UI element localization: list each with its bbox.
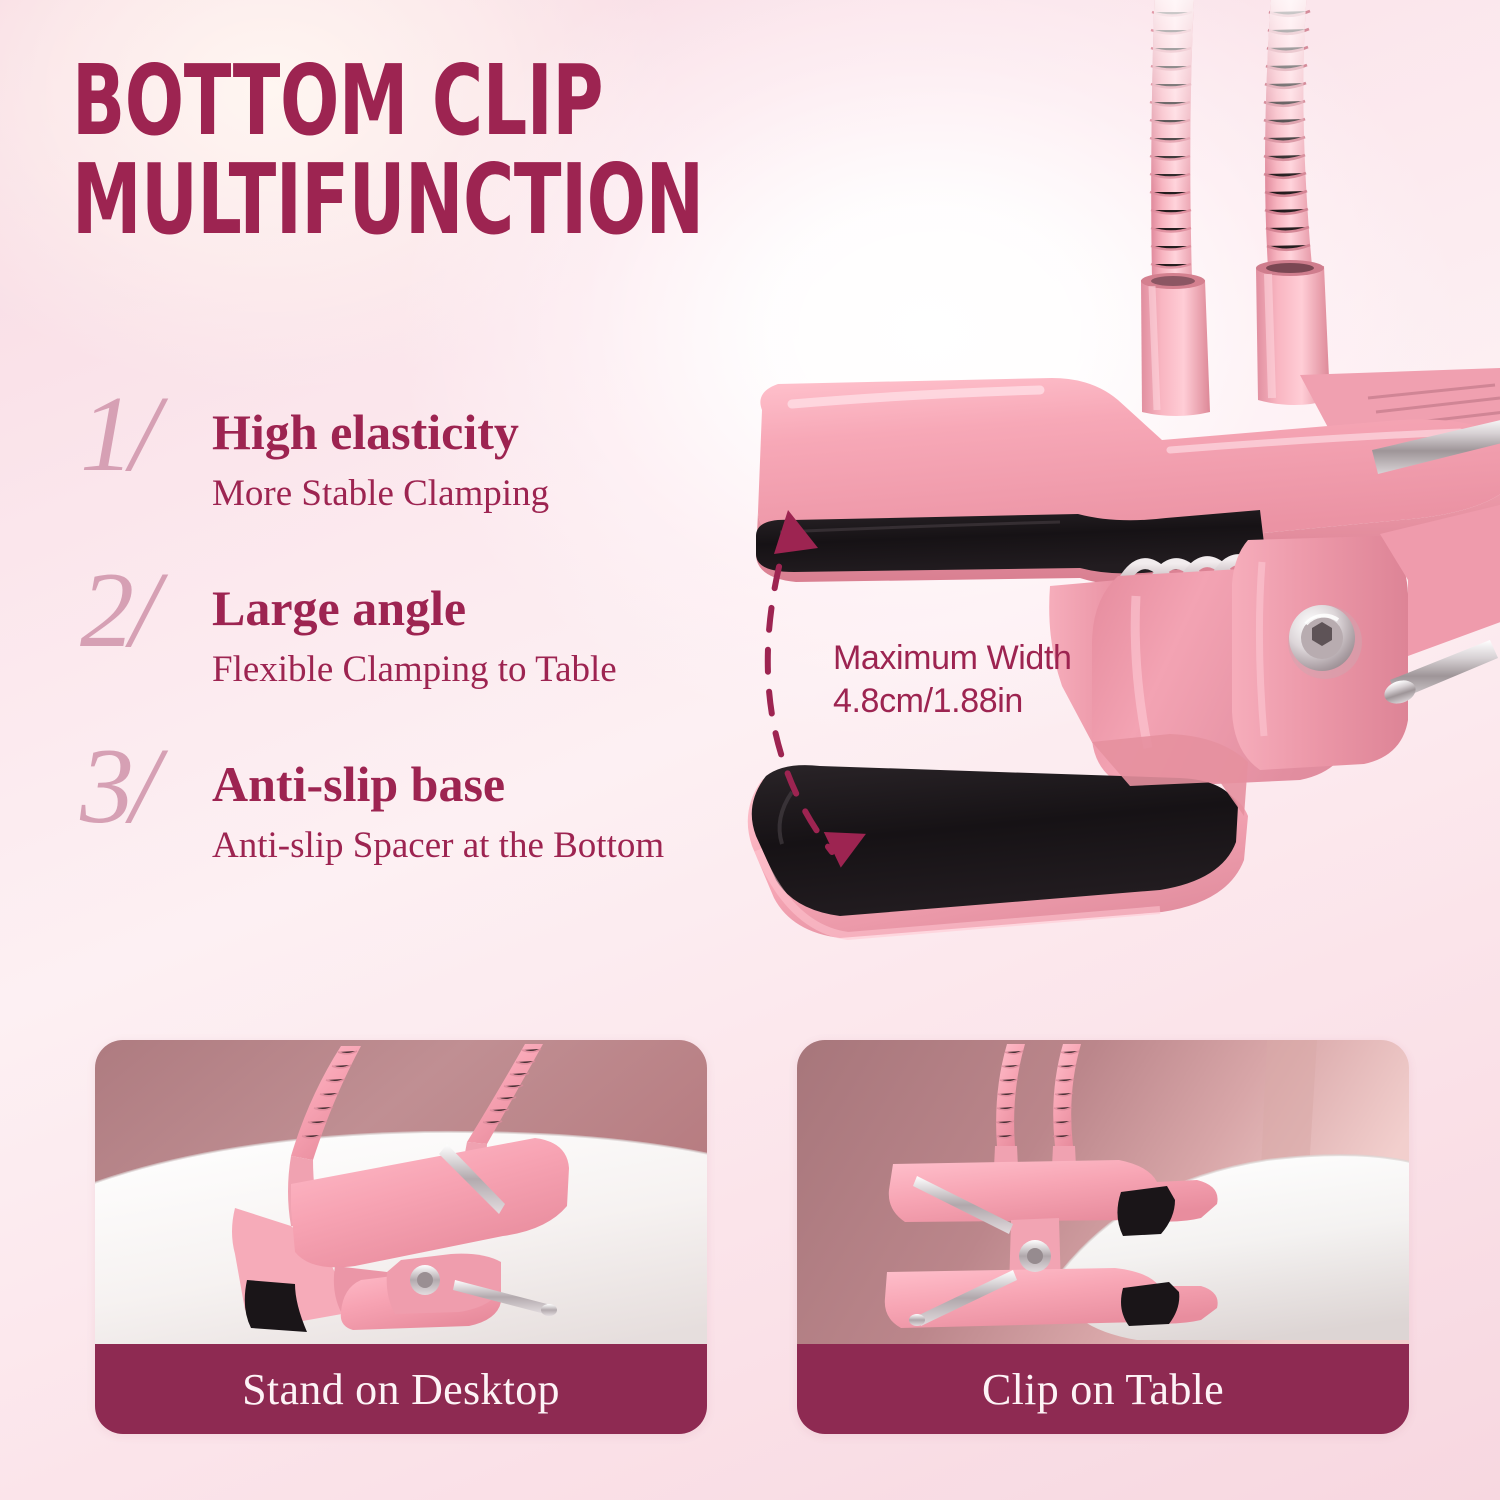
feature-list: 1/ High elasticity More Stable Clamping … [72,385,772,913]
feature-item-3: 3/ Anti-slip base Anti-slip Spacer at th… [72,737,772,913]
feature-number-2: 2/ [80,557,156,665]
feature-number-3: 3/ [80,733,156,841]
feature-item-1: 1/ High elasticity More Stable Clamping [72,385,772,561]
photo-stand-on-desktop [95,1040,707,1344]
feature-subtext-2: Flexible Clamping to Table [212,651,617,688]
clip-lower-jaw [748,765,1248,938]
hero-product-photo [700,0,1500,1020]
feature-headline-2: Large angle [212,583,466,633]
card-caption-stand-on-desktop: Stand on Desktop [95,1344,707,1434]
card-caption-clip-on-table: Clip on Table [797,1344,1409,1434]
feature-headline-3: Anti-slip base [212,759,505,809]
gooseneck-tube-right [1256,0,1330,405]
feature-subtext-1: More Stable Clamping [212,475,549,512]
gooseneck-tube-left [1141,0,1210,416]
pivot-screw [1288,605,1362,679]
feature-subtext-3: Anti-slip Spacer at the Bottom [212,827,664,864]
photo-card-clip-on-table: Clip on Table [797,1040,1409,1434]
max-width-callout: Maximum Width 4.8cm/1.88in [833,637,1072,723]
feature-number-1: 1/ [80,381,156,489]
photo-card-stand-on-desktop: Stand on Desktop [95,1040,707,1434]
photo-clip-on-table [797,1040,1409,1344]
feature-headline-1: High elasticity [212,407,519,457]
feature-item-2: 2/ Large angle Flexible Clamping to Tabl… [72,561,772,737]
page-title: BOTTOM CLIP MULTIFUNCTION [72,52,776,250]
